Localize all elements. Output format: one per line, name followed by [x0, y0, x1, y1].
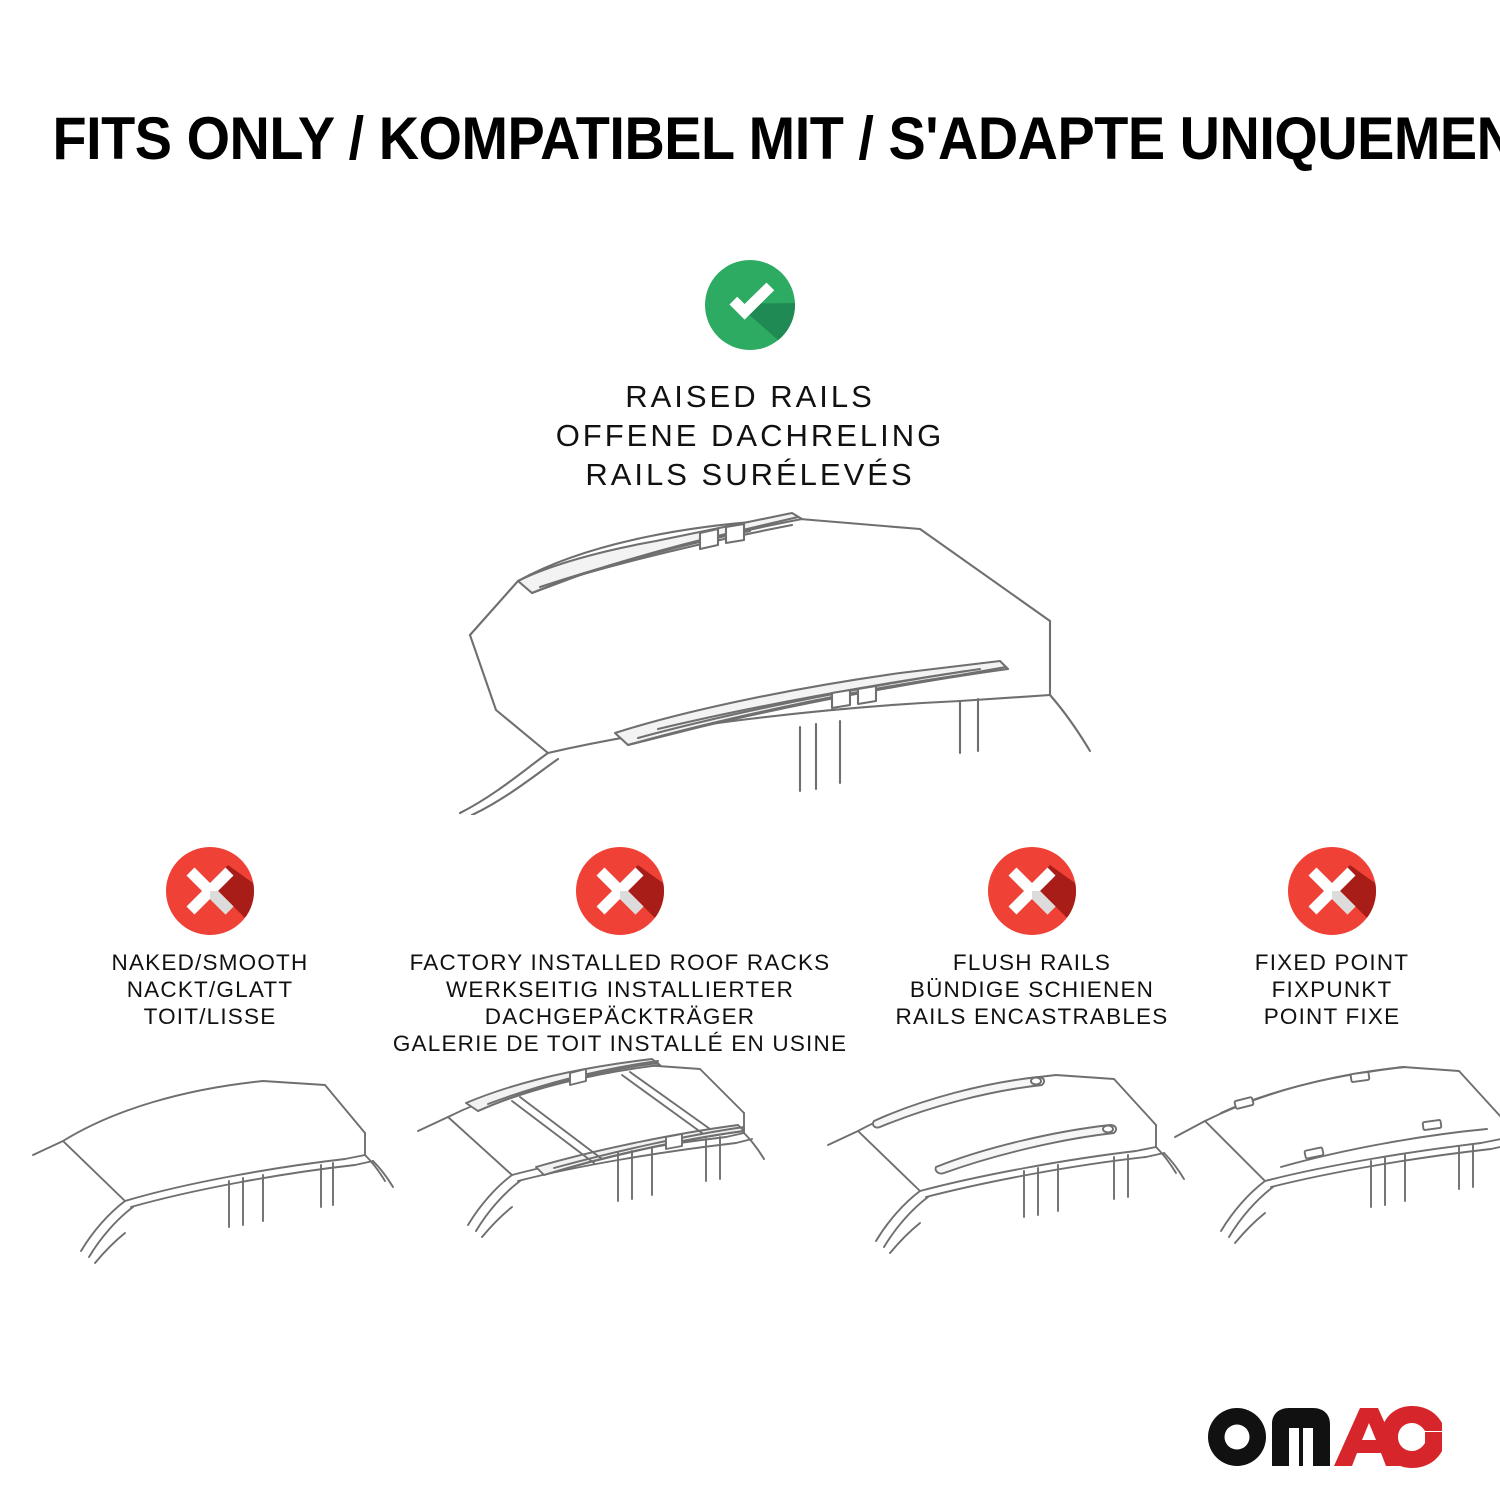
- compatible-label-de: OFFENE DACHRELING: [0, 416, 1500, 455]
- red-x-icon: [1286, 845, 1378, 937]
- compatible-label-en: RAISED RAILS: [0, 377, 1500, 416]
- omac-logo: [1206, 1406, 1442, 1468]
- car-roof-raised-rails-diagram: [400, 495, 1100, 815]
- compatible-section: RAISED RAILS OFFENE DACHRELING RAILS SUR…: [0, 255, 1500, 494]
- label-line: FIXPUNKT: [1122, 976, 1500, 1003]
- compatible-labels: RAISED RAILS OFFENE DACHRELING RAILS SUR…: [0, 377, 1500, 494]
- incompatible-labels: FIXED POINT FIXPUNKT POINT FIXE: [1122, 949, 1500, 1030]
- incompatible-illustrations: [0, 1055, 1500, 1285]
- car-roof-fixed-point-diagram: [1165, 1055, 1500, 1285]
- label-line: FIXED POINT: [1122, 949, 1500, 976]
- red-x-icon: [986, 845, 1078, 937]
- red-x-icon: [574, 845, 666, 937]
- label-line: GALERIE DE TOIT INSTALLÉ EN USINE: [330, 1030, 910, 1057]
- incompatible-option-fixed-point: FIXED POINT FIXPUNKT POINT FIXE: [1122, 845, 1500, 1030]
- car-roof-naked-smooth-diagram: [25, 1055, 405, 1285]
- green-check-icon: [700, 255, 800, 355]
- car-roof-flush-rails-diagram: [818, 1055, 1198, 1285]
- red-x-icon: [164, 845, 256, 937]
- car-roof-factory-roof-racks-diagram: [408, 1055, 788, 1285]
- page-title: FITS ONLY / KOMPATIBEL MIT / S'ADAPTE UN…: [53, 104, 1448, 173]
- fitment-guide-page: FITS ONLY / KOMPATIBEL MIT / S'ADAPTE UN…: [0, 0, 1500, 1500]
- compatible-label-fr: RAILS SURÉLEVÉS: [0, 455, 1500, 494]
- label-line: POINT FIXE: [1122, 1003, 1500, 1030]
